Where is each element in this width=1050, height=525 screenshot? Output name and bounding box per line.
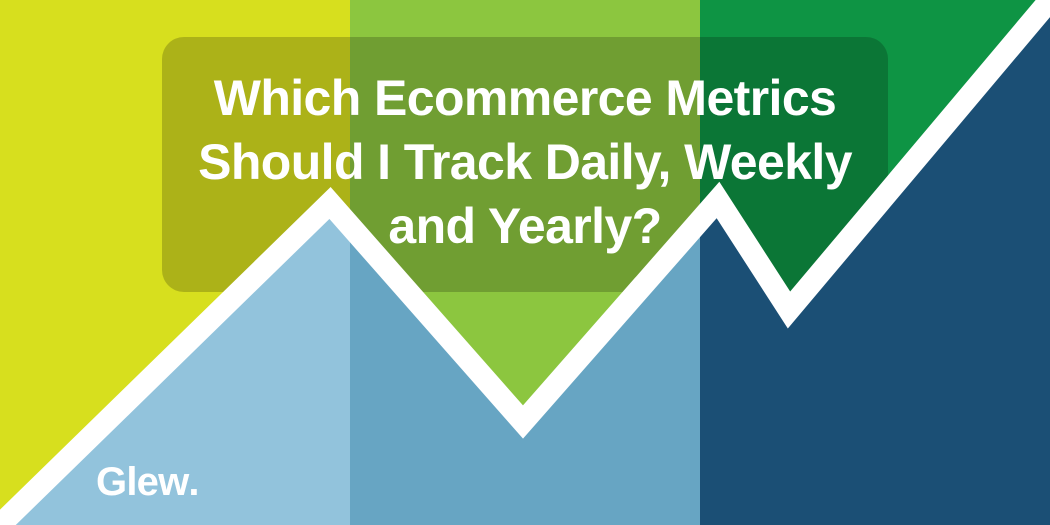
banner-graphic: Which Ecommerce Metrics Should I Track D… xyxy=(0,0,1050,525)
brand-logo: Glew . xyxy=(96,462,200,502)
brand-logo-dot: . xyxy=(188,462,199,502)
title-line-2: Should I Track Daily, Weekly xyxy=(198,130,852,194)
title-line-3: and Yearly? xyxy=(388,194,661,258)
title-line-1: Which Ecommerce Metrics xyxy=(214,66,837,130)
brand-logo-name: Glew xyxy=(96,462,188,502)
title-overlay-panel: Which Ecommerce Metrics Should I Track D… xyxy=(162,37,888,292)
